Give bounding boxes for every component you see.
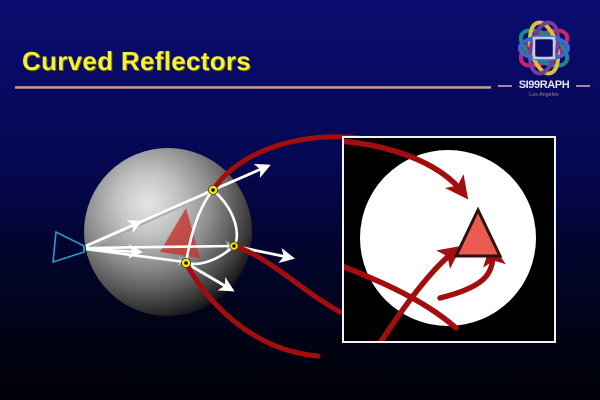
slide: Curved Reflectors SI99RAPH Los Angeles — [0, 0, 600, 400]
camera-frustum-icon — [53, 232, 84, 262]
inset-diagram — [344, 138, 554, 341]
magnified-inset-content — [344, 138, 554, 341]
